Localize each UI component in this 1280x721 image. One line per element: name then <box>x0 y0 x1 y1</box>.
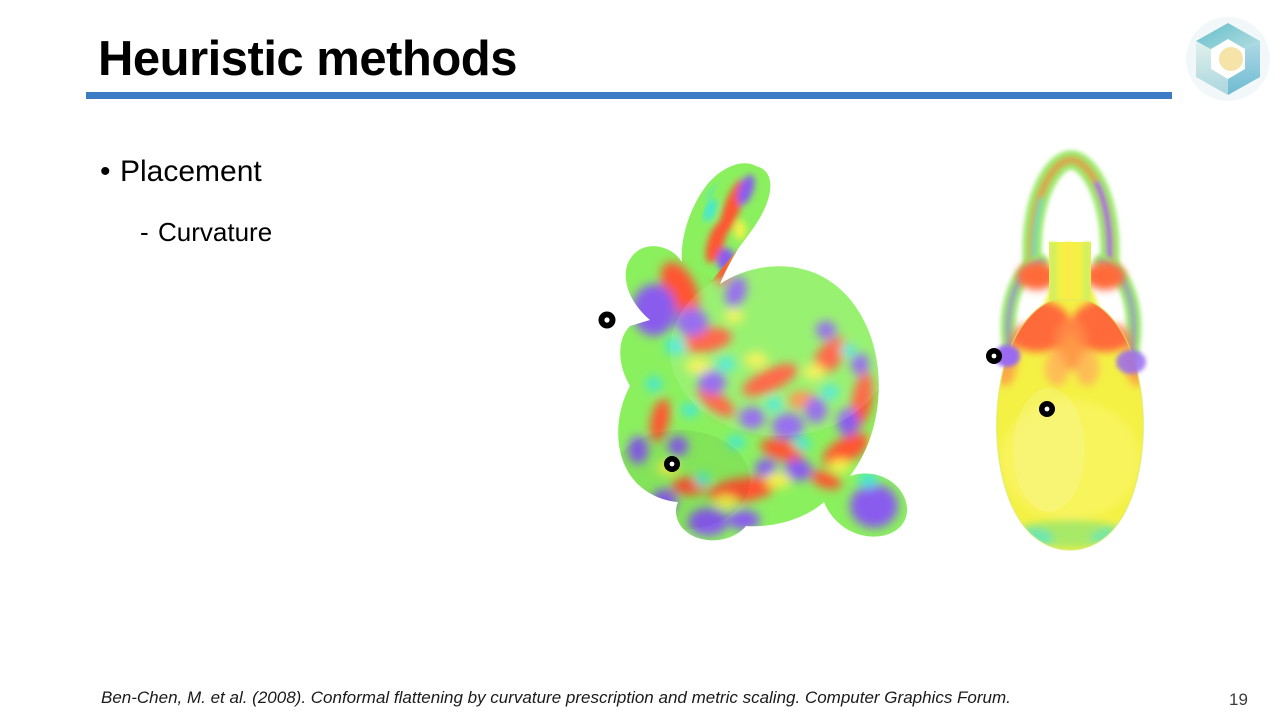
bullet-marker-dash: - <box>140 214 158 250</box>
stanford-bunny-curvature-mesh <box>530 150 930 560</box>
bullet-label-placement: Placement <box>120 155 262 188</box>
page-title: Heuristic methods <box>98 31 517 87</box>
page-number: 19 <box>1229 690 1248 710</box>
bullet-label-curvature: Curvature <box>158 217 272 247</box>
title-underline-rule <box>86 92 1172 99</box>
figure-group <box>520 130 1220 600</box>
bullet-curvature: -Curvature <box>140 214 272 250</box>
hexagon-cube-logo <box>1183 14 1273 104</box>
slide-canvas: Heuristic methods <box>0 0 1280 721</box>
bullet-marker-dot: • <box>100 152 120 192</box>
citation-text: Ben-Chen, M. et al. (2008). Conformal fl… <box>101 688 1011 708</box>
bullet-placement: •Placement <box>100 152 262 192</box>
amphora-vase-curvature-mesh <box>945 130 1195 580</box>
